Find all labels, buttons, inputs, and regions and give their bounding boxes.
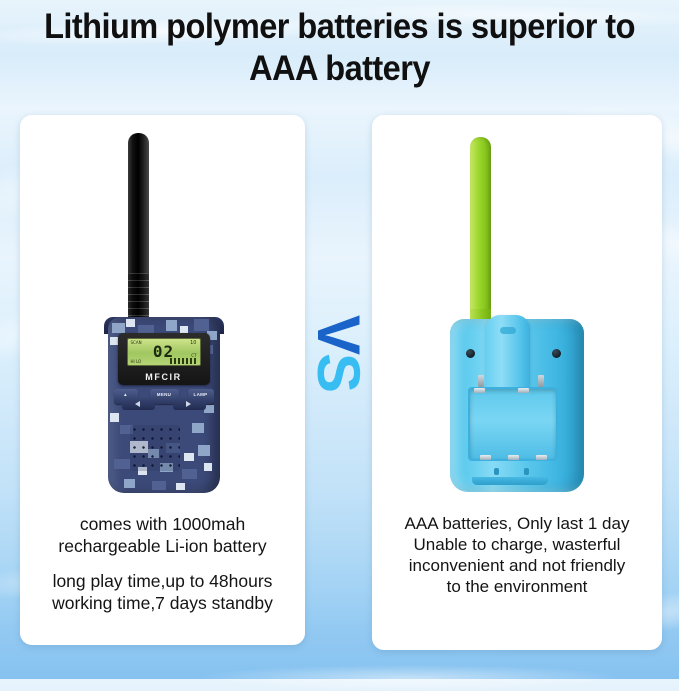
- battery-compartment-empty: [468, 387, 558, 461]
- right-caption-line-4: to the environment: [378, 576, 656, 597]
- product-photo-aaa-walkie-talkie: [372, 115, 662, 500]
- left-caption-line-3: long play time,up to 48hours: [26, 570, 299, 592]
- battery-contact: [474, 388, 485, 393]
- case-notch: [524, 468, 529, 475]
- left-caption-secondary: long play time,up to 48hours working tim…: [26, 570, 299, 614]
- arrow-left-icon[interactable]: [122, 397, 155, 410]
- battery-contact: [518, 388, 529, 393]
- product-photo-lithium-walkie-talkie: SCAN 10 02 CT HI LO MFCIR ▲ MENU LAMP: [20, 115, 305, 500]
- left-caption-line-4: working time,7 days standby: [26, 592, 299, 614]
- title-line-2: AAA battery: [24, 48, 655, 90]
- page-title: Lithium polymer batteries is superior to…: [24, 6, 655, 90]
- lcd-indicator-bottom-left: HI LO: [131, 359, 142, 364]
- device-foot: [472, 477, 548, 485]
- walkie-talkie-blue: [442, 137, 592, 492]
- right-caption-line-3: inconvenient and not friendly: [378, 555, 656, 576]
- brand-label: MFCIR: [118, 372, 210, 382]
- vs-badge-text: VS: [308, 315, 368, 391]
- walkie-talkie-camo: SCAN 10 02 CT HI LO MFCIR ▲ MENU LAMP: [98, 133, 228, 493]
- battery-contact: [536, 455, 547, 460]
- left-caption-primary: comes with 1000mah rechargeable Li-ion b…: [26, 513, 299, 557]
- vs-letter-v: V: [305, 315, 372, 353]
- battery-contact: [480, 455, 491, 460]
- right-caption-line-2: Unable to charge, wasterful: [378, 534, 656, 555]
- antenna-green: [470, 137, 491, 322]
- vs-letter-s: S: [305, 353, 372, 391]
- battery-clip-left: [478, 375, 484, 387]
- speaker-grille: [130, 425, 180, 471]
- cloud-streak: [200, 665, 620, 691]
- battery-contact: [508, 455, 519, 460]
- lcd-panel: SCAN 10 02 CT HI LO MFCIR: [118, 333, 210, 385]
- arrow-buttons: [122, 397, 206, 413]
- comparison-card-lithium: SCAN 10 02 CT HI LO MFCIR ▲ MENU LAMP: [20, 115, 305, 645]
- arrow-right-icon[interactable]: [173, 397, 206, 410]
- lcd-signal-bars: [170, 358, 196, 364]
- case-notch: [494, 468, 499, 475]
- right-caption-line-1: AAA batteries, Only last 1 day: [378, 513, 656, 534]
- vs-badge: VS: [306, 298, 370, 408]
- right-caption: AAA batteries, Only last 1 day Unable to…: [378, 513, 656, 597]
- title-line-1: Lithium polymer batteries is superior to: [24, 6, 655, 48]
- screw-right-icon: [552, 349, 561, 358]
- left-caption-line-1: comes with 1000mah: [26, 513, 299, 535]
- comparison-card-aaa: AAA batteries, Only last 1 day Unable to…: [372, 115, 662, 650]
- screw-left-icon: [466, 349, 475, 358]
- left-caption-line-2: rechargeable Li-ion battery: [26, 535, 299, 557]
- battery-clip-right: [538, 375, 544, 387]
- antenna-black: [128, 133, 149, 329]
- lcd-screen: SCAN 10 02 CT HI LO: [127, 338, 201, 366]
